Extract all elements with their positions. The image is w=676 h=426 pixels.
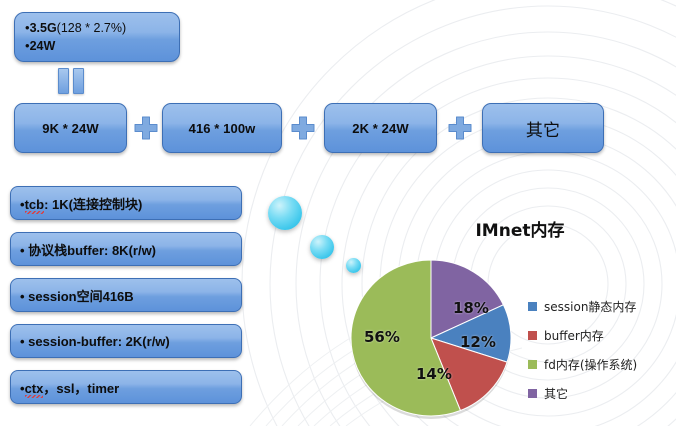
- plus-icon: [133, 115, 159, 141]
- term-label: 其它: [526, 116, 560, 141]
- summary-box: •3.5G(128 * 2.7%) •24W: [14, 12, 180, 62]
- list-item-rest: session空间416B: [25, 289, 134, 304]
- summary-line-2: •24W: [25, 37, 55, 55]
- bullet-icon: •: [20, 197, 25, 212]
- list-item-rest: : 1K(连接控制块): [44, 197, 142, 212]
- plus-icon: [290, 115, 316, 141]
- plus-icon: [447, 115, 473, 141]
- list-item-text: • 协议栈buffer: 8K(r/w): [20, 240, 156, 259]
- list-item: • session空间416B: [10, 278, 242, 312]
- pie-label-fd: 56%: [364, 328, 400, 346]
- legend-item-other: 其它: [528, 379, 676, 408]
- bubble-medium-icon: [310, 235, 334, 259]
- summary-line-1-normal: (128 * 2.7%): [57, 21, 126, 35]
- term-label: 9K * 24W: [42, 121, 98, 136]
- legend-item-buffer: buffer内存: [528, 321, 676, 350]
- list-item-rest: ，ssl，timer: [43, 381, 119, 396]
- legend-swatch-icon: [528, 389, 537, 398]
- legend-item-session: session静态内存: [528, 292, 676, 321]
- list-item-text: •ctx，ssl，timer: [20, 378, 119, 397]
- list-item-text: •tcb: 1K(连接控制块): [20, 194, 142, 213]
- pie-label-session: 12%: [460, 333, 496, 351]
- list-item: •tcb: 1K(连接控制块): [10, 186, 242, 220]
- term-box-9k: 9K * 24W: [14, 103, 127, 153]
- term-label: 416 * 100w: [189, 121, 256, 136]
- list-item: • 协议栈buffer: 8K(r/w): [10, 232, 242, 266]
- legend-label: buffer内存: [544, 327, 604, 344]
- list-item: •ctx，ssl，timer: [10, 370, 242, 404]
- legend-label: fd内存(操作系统): [544, 356, 637, 373]
- pie-label-other: 18%: [453, 299, 489, 317]
- summary-line-2-strong: 24W: [30, 39, 56, 53]
- term-label: 2K * 24W: [352, 121, 408, 136]
- term-box-other: 其它: [482, 103, 604, 153]
- equals-bar-right: [73, 68, 84, 94]
- legend-label: session静态内存: [544, 298, 636, 315]
- list-item: • session-buffer: 2K(r/w): [10, 324, 242, 358]
- list-item-text: • session空间416B: [20, 286, 134, 305]
- bubble-large-icon: [268, 196, 302, 230]
- list-item-rest: session-buffer: 2K(r/w): [25, 334, 170, 349]
- spellcheck-word: ctx: [25, 381, 44, 396]
- pie-label-buffer: 14%: [416, 365, 452, 383]
- term-box-416: 416 * 100w: [162, 103, 282, 153]
- spellcheck-word: tcb: [25, 197, 45, 212]
- pie-chart: 18% 12% 14% 56%: [340, 255, 522, 421]
- summary-line-1-strong: 3.5G: [30, 21, 57, 35]
- bullet-icon: •: [20, 381, 25, 396]
- legend-swatch-icon: [528, 302, 537, 311]
- chart-legend: session静态内存 buffer内存 fd内存(操作系统) 其它: [528, 292, 676, 408]
- legend-item-fd: fd内存(操作系统): [528, 350, 676, 379]
- summary-line-1: •3.5G(128 * 2.7%): [25, 19, 126, 37]
- equals-bar-left: [58, 68, 69, 94]
- term-box-2k: 2K * 24W: [324, 103, 437, 153]
- chart-title: IMnet内存: [420, 216, 620, 241]
- legend-swatch-icon: [528, 331, 537, 340]
- legend-swatch-icon: [528, 360, 537, 369]
- list-item-rest: 协议栈buffer: 8K(r/w): [25, 243, 156, 258]
- legend-label: 其它: [544, 385, 568, 402]
- equals-connector-icon: [58, 68, 84, 92]
- slide-canvas: •3.5G(128 * 2.7%) •24W 9K * 24W 416 * 10…: [0, 0, 676, 426]
- list-item-text: • session-buffer: 2K(r/w): [20, 334, 170, 349]
